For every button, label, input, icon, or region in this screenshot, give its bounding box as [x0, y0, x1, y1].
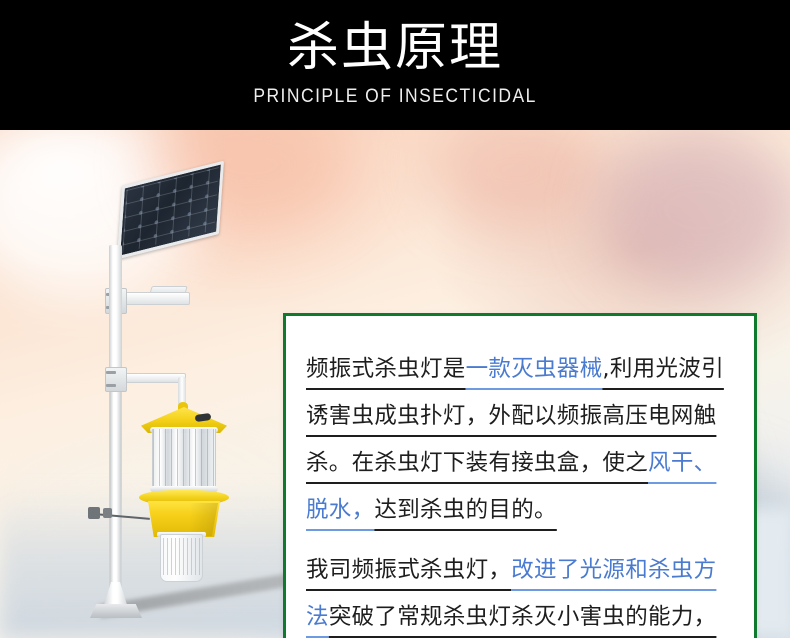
solar-cell-dots	[122, 167, 219, 253]
description-card-inner: 频振式杀虫灯是一款灭虫器械,利用光波引诱害虫成虫扑灯，外配以频振高压电网触杀。在…	[286, 316, 754, 638]
wire-clip	[103, 508, 112, 518]
support-pole-lower	[110, 382, 121, 612]
body-text-segment: 突破了常规杀虫灯杀灭小害虫的能力，大大提高了害虫的杀灭效率。	[306, 604, 716, 638]
photo-background: 频振式杀虫灯是一款灭虫器械,利用光波引诱害虫成虫扑灯，外配以频振高压电网触杀。在…	[0, 130, 790, 638]
body-text-segment: 达到杀虫的目的。	[374, 497, 556, 523]
body-text-segment: 频振式杀虫灯是	[306, 356, 466, 382]
description-paragraph-1: 频振式杀虫灯是一款灭虫器械,利用光波引诱害虫成虫扑灯，外配以频振高压电网触杀。在…	[306, 346, 734, 534]
description-paragraph-2: 我司频振式杀虫灯，改进了光源和杀虫方法突破了常规杀虫灯杀灭小害虫的能力，大大提高…	[306, 547, 734, 638]
wire-clip	[88, 507, 100, 519]
solar-panel-arm	[124, 292, 190, 305]
bracket-bolt	[106, 371, 116, 374]
page-root: 杀虫原理 PRINCIPLE OF INSECTICIDAL	[0, 0, 790, 638]
body-text-segment: 我司频振式杀虫灯，	[306, 557, 511, 583]
collection-jar	[160, 534, 203, 582]
highlighted-text-segment: 一款灭虫器械	[466, 356, 603, 382]
lamp-arm	[124, 373, 186, 383]
pole-base-plate	[90, 604, 142, 618]
solar-insecticidal-lamp-illustration	[0, 130, 290, 638]
background-blur-blob	[430, 130, 600, 230]
background-blur-blob	[600, 130, 790, 290]
jar-mesh	[163, 538, 200, 575]
solar-panel-icon	[117, 161, 224, 260]
bracket-bolt	[106, 384, 116, 387]
high-voltage-grid	[153, 429, 215, 491]
page-header: 杀虫原理 PRINCIPLE OF INSECTICIDAL	[0, 0, 790, 130]
description-card: 频振式杀虫灯是一款灭虫器械,利用光波引诱害虫成虫扑灯，外配以频振高压电网触杀。在…	[283, 313, 757, 638]
page-subtitle: PRINCIPLE OF INSECTICIDAL	[253, 87, 537, 106]
page-title: 杀虫原理	[287, 22, 503, 74]
uv-tube-cage	[152, 429, 216, 491]
